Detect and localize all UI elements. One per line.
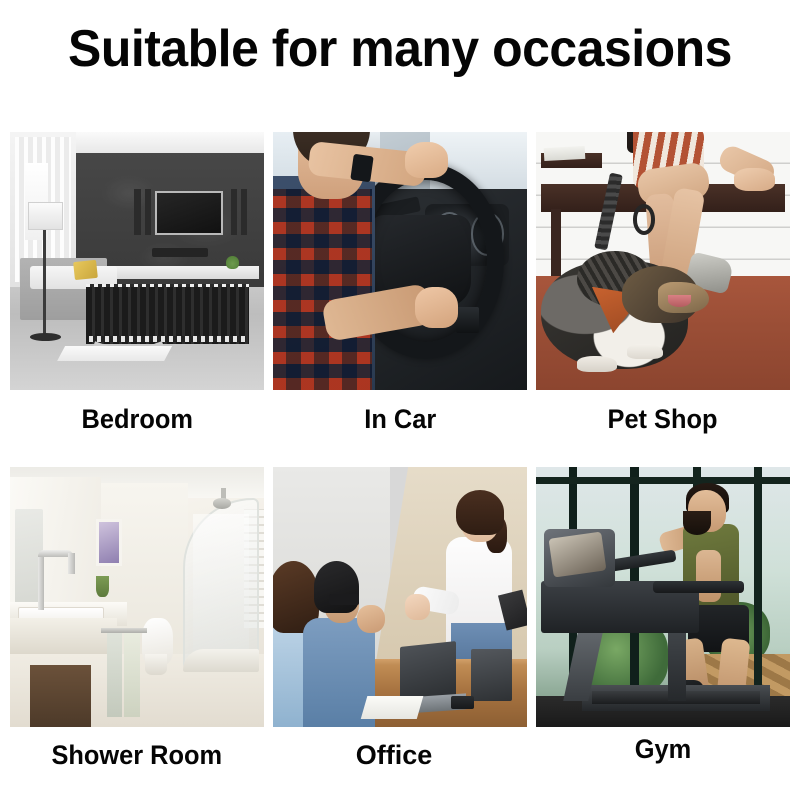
shower-glass-panel — [193, 514, 249, 665]
occasion-cell-shower-room[interactable]: Shower Room — [10, 467, 264, 783]
colleague-two-hair — [314, 561, 360, 613]
bedroom-floor-lamp-shade — [28, 202, 64, 230]
caption-pet-shop: Pet Shop — [608, 404, 718, 434]
bedroom-floor-lamp-base — [30, 333, 60, 341]
pet-shop-photo[interactable] — [536, 132, 790, 390]
gym-window-header — [536, 477, 790, 484]
bedroom-bench-base — [89, 336, 246, 342]
gym-caption-wrap: Gym — [536, 727, 790, 783]
pet-shop-caption-wrap: Pet Shop — [536, 390, 790, 448]
bathroom-cabinet — [30, 665, 91, 727]
bedroom-speaker — [231, 189, 237, 235]
bedroom-floor-lamp-stand — [43, 215, 46, 339]
grid-row-2: Shower Room — [10, 467, 790, 783]
shower-room-caption-wrap: Shower Room — [10, 727, 264, 783]
bedroom-caption-wrap: Bedroom — [10, 390, 264, 448]
bathroom-faucet — [38, 553, 44, 610]
presenter-hand — [405, 594, 430, 620]
colleague-two-glasses — [329, 594, 359, 604]
runner-beard — [683, 511, 711, 534]
bedroom-rug — [57, 346, 172, 361]
driver-upper-hand — [405, 142, 448, 178]
page-title: Suitable for many occasions — [16, 20, 784, 78]
shower-tray — [183, 649, 259, 672]
occasion-cell-bedroom[interactable]: Bedroom — [10, 132, 264, 448]
bedroom-television — [155, 191, 224, 235]
caption-office: Office — [356, 740, 433, 770]
office-second-laptop — [471, 649, 512, 701]
driver-plaid-shirt — [273, 189, 372, 390]
in-car-photo[interactable] — [273, 132, 527, 390]
woman-hand — [734, 168, 775, 191]
caption-shower-room: Shower Room — [52, 740, 223, 770]
driver-wrist-watch — [350, 154, 374, 182]
occasion-cell-office[interactable]: Office — [273, 467, 527, 783]
treadmill-handlebar — [653, 581, 744, 593]
bathroom-counter-front — [10, 618, 117, 654]
bedroom-tv-screen — [157, 193, 222, 233]
bathroom-towel — [107, 633, 122, 716]
bedroom-photo[interactable] — [10, 132, 264, 390]
bathroom-framed-art — [96, 519, 121, 566]
occasion-cell-pet-shop[interactable]: Pet Shop — [536, 132, 790, 448]
bedroom-speaker — [241, 189, 247, 235]
bathroom-toilet-base — [145, 654, 168, 675]
driver-lower-hand — [415, 287, 458, 328]
bedroom-speaker — [145, 189, 151, 235]
gym-window-mullion — [754, 467, 762, 691]
gym-window-mullion — [630, 467, 639, 691]
bedroom-plant — [226, 256, 239, 269]
infographic-page: Suitable for many occasions — [0, 0, 800, 800]
car-ignition-key — [456, 307, 479, 333]
presenter-hair — [456, 490, 504, 534]
shower-head — [213, 498, 231, 508]
treadmill-console-screen — [549, 531, 607, 577]
pet-shop-papers — [543, 146, 584, 161]
bathroom-towel — [124, 633, 139, 716]
bathroom-faucet-nozzle — [68, 553, 74, 574]
colleague-two-hand — [357, 605, 385, 634]
office-phone — [451, 696, 474, 709]
occasion-grid: Bedroom — [10, 132, 790, 783]
runner-back-arm — [696, 550, 721, 602]
dog-paw — [627, 344, 663, 359]
caption-in-car: In Car — [364, 404, 436, 434]
office-photo[interactable] — [273, 467, 527, 727]
gym-photo[interactable] — [536, 467, 790, 727]
bedroom-yellow-cushion — [73, 260, 98, 280]
grid-row-1: Bedroom — [10, 132, 790, 448]
shower-room-photo[interactable] — [10, 467, 264, 727]
bedroom-media-console — [152, 248, 208, 257]
bathroom-plant — [96, 576, 109, 597]
occasion-cell-in-car[interactable]: In Car — [273, 132, 527, 448]
caption-gym: Gym — [635, 734, 691, 764]
occasion-cell-gym[interactable]: Gym — [536, 467, 790, 783]
office-caption-wrap: Office — [273, 727, 527, 783]
office-documents — [361, 696, 424, 719]
dog-paw — [577, 356, 618, 371]
in-car-caption-wrap: In Car — [273, 390, 527, 448]
caption-bedroom: Bedroom — [81, 404, 192, 434]
pet-shop-bench-leg — [551, 209, 561, 276]
bedroom-speaker — [134, 189, 140, 235]
